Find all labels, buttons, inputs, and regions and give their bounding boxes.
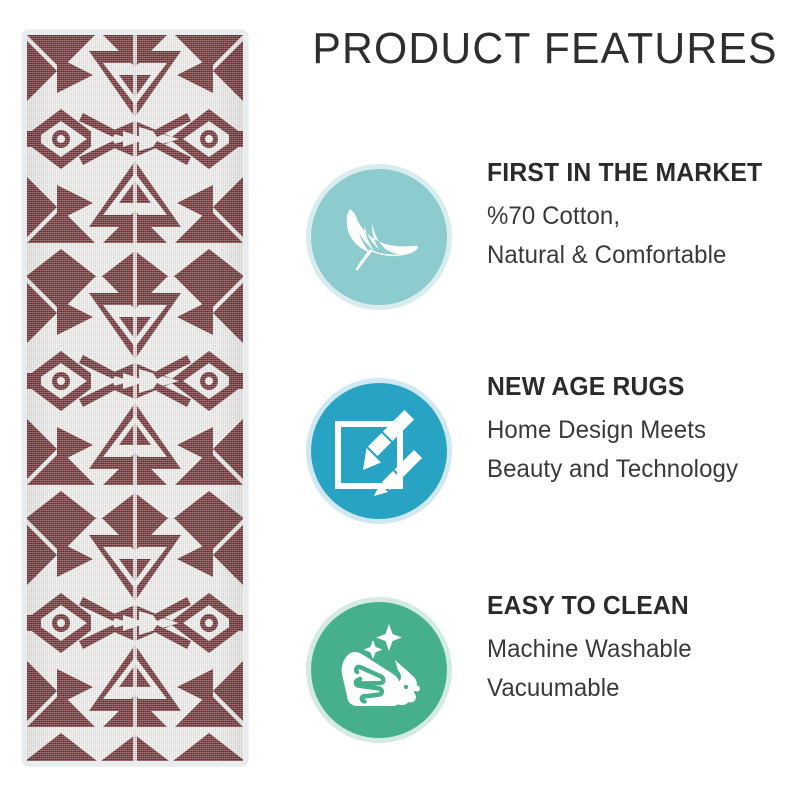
feature-description: Home Design Meets Beauty and Technology	[487, 411, 792, 489]
feature-heading: EASY TO CLEAN	[487, 591, 777, 621]
design-pencil-brush-icon	[330, 402, 428, 500]
feature-icon-disc	[311, 169, 447, 305]
feature-line: Machine Washable	[487, 630, 780, 669]
rug-pattern-graphic	[27, 35, 243, 761]
feature-item: EASY TO CLEAN Machine Washable Vacuumabl…	[290, 585, 800, 745]
feature-icon-badge	[306, 378, 452, 524]
product-features-infographic: PRODUCT FEATURES FIRST IN THE MARKET %70…	[0, 0, 800, 800]
feature-line: Home Design Meets	[487, 411, 780, 450]
feature-icon-disc	[311, 602, 447, 738]
feature-item: NEW AGE RUGS Home Design Meets Beauty an…	[290, 366, 800, 526]
feature-item: FIRST IN THE MARKET %70 Cotton, Natural …	[290, 152, 800, 312]
page-title: PRODUCT FEATURES	[298, 24, 793, 74]
feature-text: EASY TO CLEAN Machine Washable Vacuumabl…	[487, 591, 792, 707]
feather-icon	[327, 185, 431, 289]
rug-photo	[22, 30, 248, 766]
feature-line: Natural & Comfortable	[487, 236, 780, 275]
feature-text: NEW AGE RUGS Home Design Meets Beauty an…	[487, 372, 792, 488]
feature-icon-badge	[306, 597, 452, 743]
feature-description: Machine Washable Vacuumable	[487, 630, 792, 708]
cleaning-hand-cloth-icon	[327, 618, 431, 722]
feature-text: FIRST IN THE MARKET %70 Cotton, Natural …	[487, 158, 792, 274]
feature-line: Vacuumable	[487, 669, 780, 708]
feature-line: %70 Cotton,	[487, 197, 780, 236]
feature-heading: FIRST IN THE MARKET	[487, 158, 777, 188]
rug-pattern-area	[27, 35, 243, 761]
feature-icon-disc	[311, 383, 447, 519]
feature-icon-badge	[306, 164, 452, 310]
feature-line: Beauty and Technology	[487, 450, 780, 489]
feature-heading: NEW AGE RUGS	[487, 372, 777, 402]
feature-description: %70 Cotton, Natural & Comfortable	[487, 197, 792, 275]
product-image-panel	[0, 0, 290, 800]
features-content: PRODUCT FEATURES FIRST IN THE MARKET %70…	[290, 0, 800, 800]
